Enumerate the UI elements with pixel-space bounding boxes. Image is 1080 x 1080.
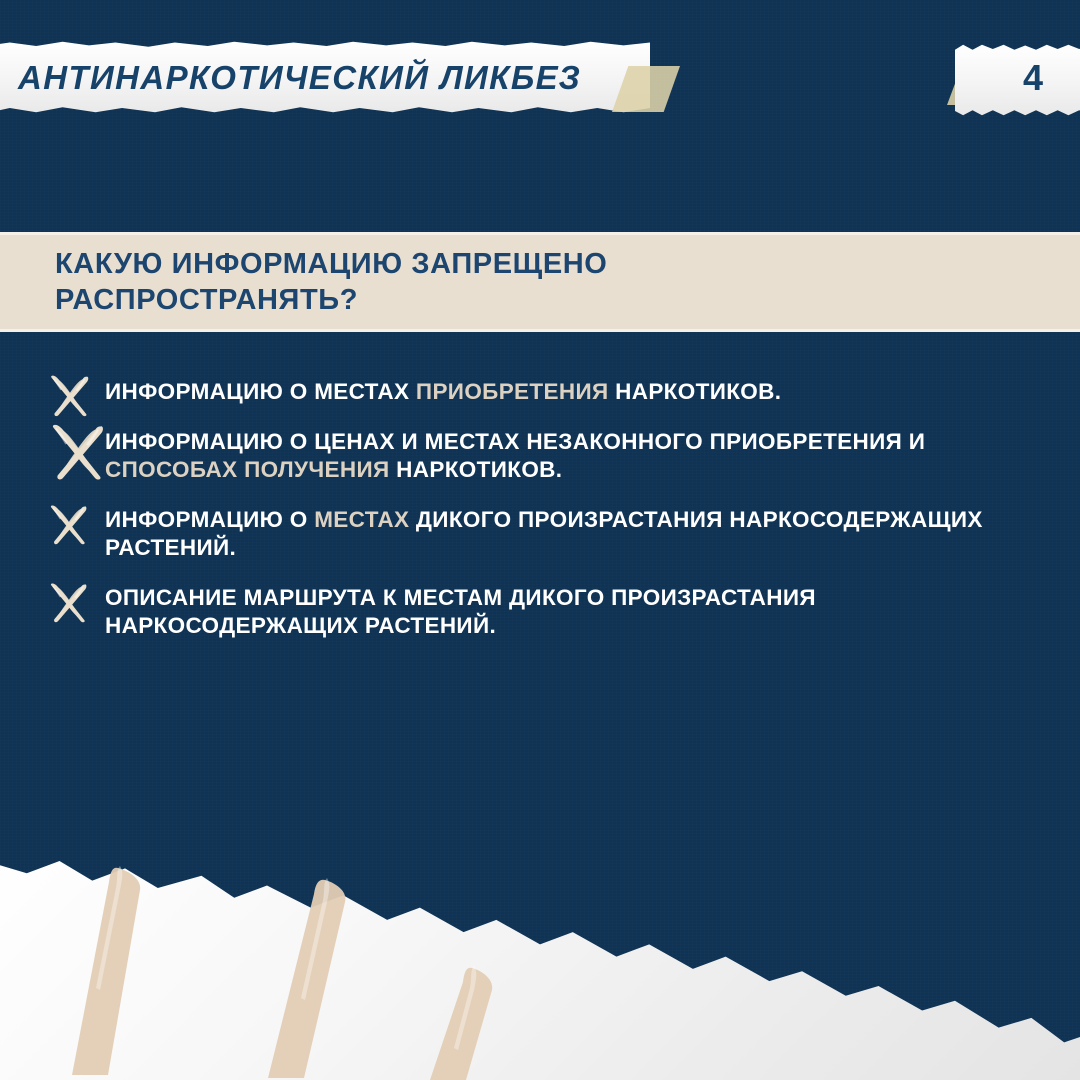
x-cross-icon: [46, 502, 90, 551]
bullet-text: ИНФОРМАЦИЮ О МЕСТАХ ПРИОБРЕТЕНИЯ НАРКОТИ…: [105, 378, 1050, 406]
header-title: АНТИНАРКОТИЧЕСКИЙ ЛИКБЕЗ: [18, 56, 581, 100]
bullet-plain-text: ОПИСАНИЕ МАРШРУТА К МЕСТАМ ДИКОГО ПРОИЗР…: [105, 585, 816, 638]
bullet-accent-word: ПРИОБРЕТЕНИЯ: [416, 379, 609, 404]
page-title-line2: РАСПРОСТРАНЯТЬ?: [55, 282, 955, 318]
bullet-text: ИНФОРМАЦИЮ О МЕСТАХ ДИКОГО ПРОИЗРАСТАНИЯ…: [105, 506, 1050, 562]
bottom-torn-paper: [0, 839, 1080, 1080]
slide-canvas: АНТИНАРКОТИЧЕСКИЙ ЛИКБЕЗ 4 КАКУЮ ИНФОРМА…: [0, 0, 1080, 1080]
bullet-plain-text: ИНФОРМАЦИЮ О: [105, 507, 314, 532]
bullet-text: ОПИСАНИЕ МАРШРУТА К МЕСТАМ ДИКОГО ПРОИЗР…: [105, 584, 1050, 640]
x-cross-icon: [46, 372, 92, 423]
x-cross-icon: [46, 580, 90, 629]
page-number: 4: [1010, 56, 1056, 100]
page-title: КАКУЮ ИНФОРМАЦИЮ ЗАПРЕЩЕНО РАСПРОСТРАНЯТ…: [55, 246, 955, 318]
bullet-plain-text: ИНФОРМАЦИЮ О МЕСТАХ: [105, 379, 416, 404]
bullet-item: ИНФОРМАЦИЮ О МЕСТАХ ДИКОГО ПРОИЗРАСТАНИЯ…: [0, 506, 1080, 562]
bullet-item: ИНФОРМАЦИЮ О МЕСТАХ ПРИОБРЕТЕНИЯ НАРКОТИ…: [0, 378, 1080, 406]
bullet-accent-word: СПОСОБАХ ПОЛУЧЕНИЯ: [105, 457, 390, 482]
bullet-item: ИНФОРМАЦИЮ О ЦЕНАХ И МЕСТАХ НЕЗАКОННОГО …: [0, 428, 1080, 484]
x-cross-icon: [46, 420, 108, 487]
bullet-plain-text: ИНФОРМАЦИЮ О ЦЕНАХ И МЕСТАХ НЕЗАКОННОГО …: [105, 429, 925, 454]
bullet-item: ОПИСАНИЕ МАРШРУТА К МЕСТАМ ДИКОГО ПРОИЗР…: [0, 584, 1080, 640]
bullet-list: ИНФОРМАЦИЮ О МЕСТАХ ПРИОБРЕТЕНИЯ НАРКОТИ…: [0, 378, 1080, 662]
bullet-accent-word: МЕСТАХ: [314, 507, 409, 532]
bullet-plain-text: НАРКОТИКОВ.: [609, 379, 782, 404]
bullet-plain-text: НАРКОТИКОВ.: [390, 457, 563, 482]
page-title-line1: КАКУЮ ИНФОРМАЦИЮ ЗАПРЕЩЕНО: [55, 248, 607, 280]
heading-band: КАКУЮ ИНФОРМАЦИЮ ЗАПРЕЩЕНО РАСПРОСТРАНЯТ…: [0, 232, 1080, 332]
bullet-text: ИНФОРМАЦИЮ О ЦЕНАХ И МЕСТАХ НЕЗАКОННОГО …: [105, 428, 1050, 484]
